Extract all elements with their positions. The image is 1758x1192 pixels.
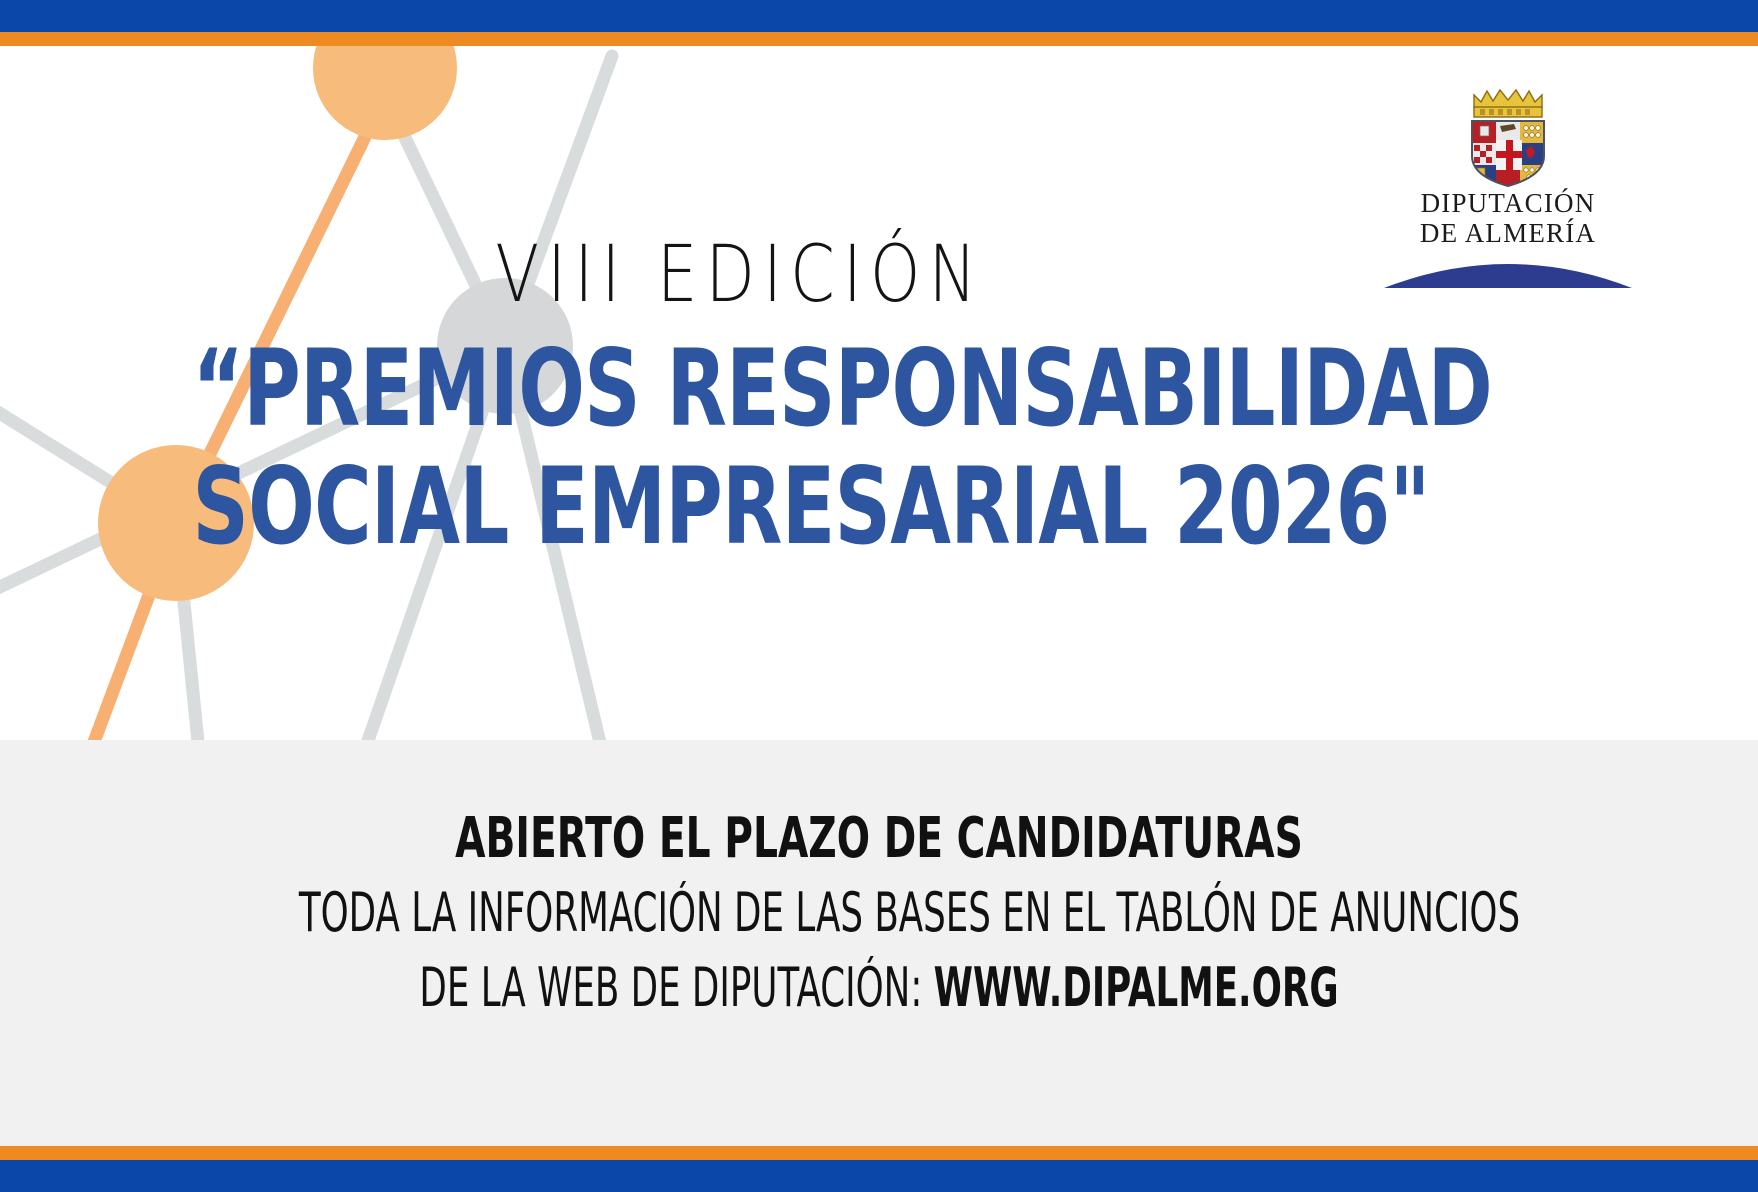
logo-line-1: DIPUTACIÓN <box>1378 188 1638 218</box>
top-orange-rule <box>0 32 1758 46</box>
bottom-blue-rule <box>0 1160 1758 1192</box>
node-orange-left <box>98 445 254 601</box>
poster-canvas: DIPUTACIÓN DE ALMERÍA VIII EDICIÓN “PREM… <box>0 0 1758 1192</box>
logo-swoosh <box>1378 254 1638 288</box>
info-band <box>0 740 1758 1152</box>
bottom-orange-rule <box>0 1146 1758 1160</box>
node-grey-upper <box>437 278 573 414</box>
top-blue-rule <box>0 0 1758 32</box>
node-orange-top <box>313 46 457 140</box>
coat-of-arms-icon <box>1378 78 1638 188</box>
diputacion-logo: DIPUTACIÓN DE ALMERÍA <box>1378 78 1638 288</box>
logo-line-2: DE ALMERÍA <box>1378 218 1638 248</box>
